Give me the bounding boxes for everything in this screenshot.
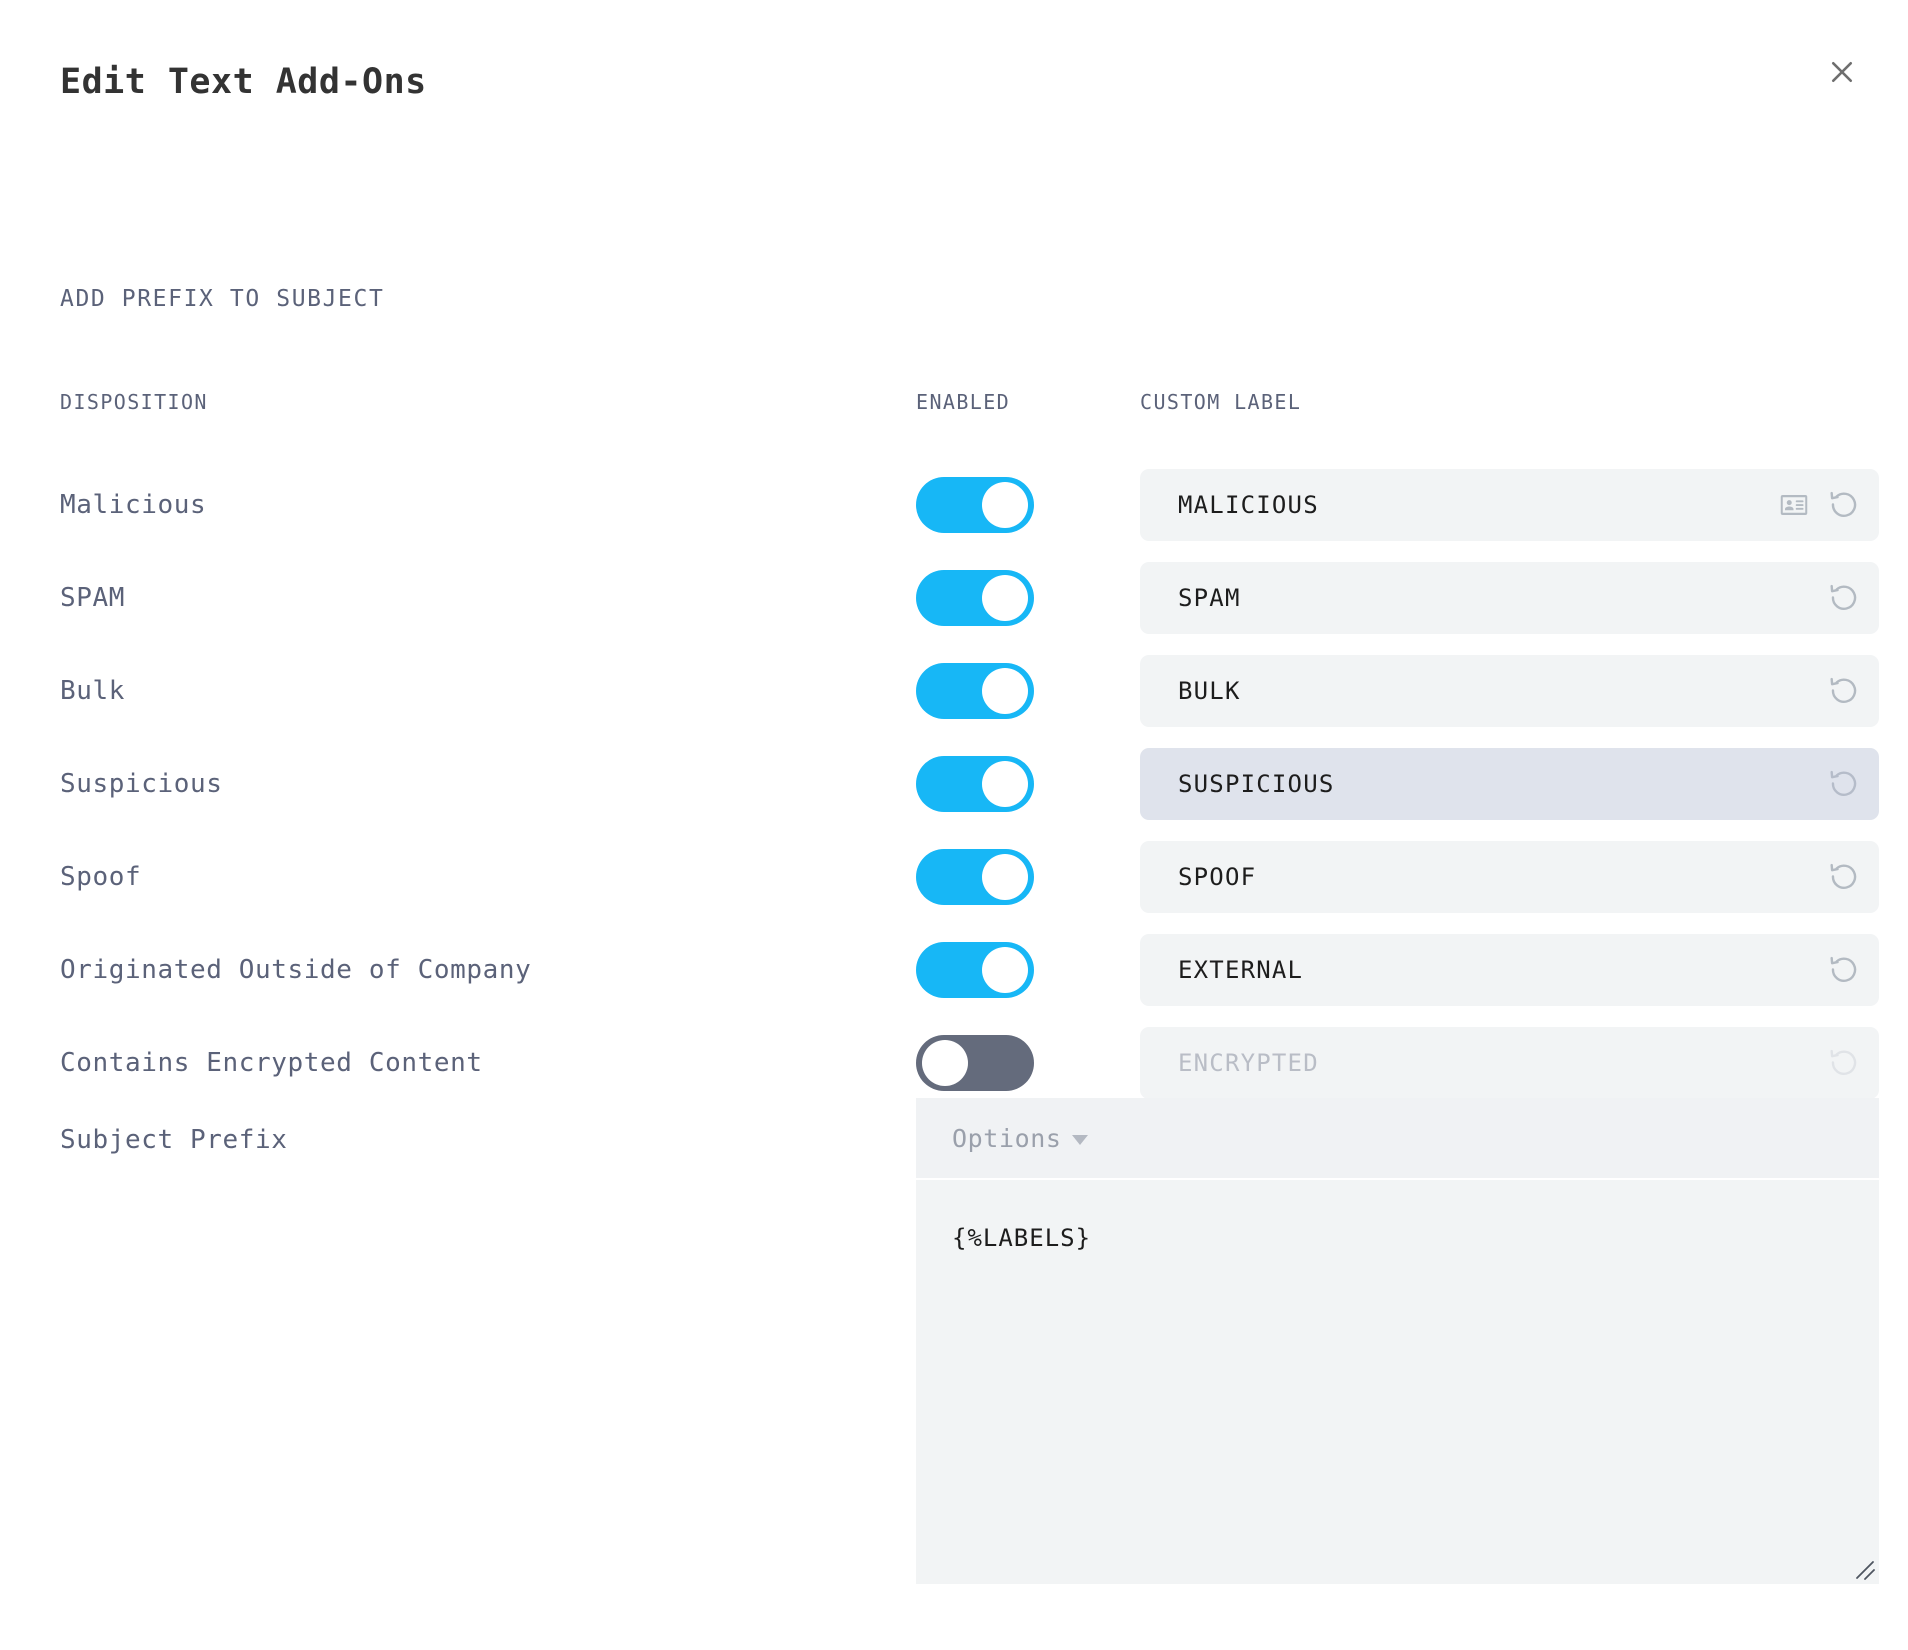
field-icon-group (1827, 581, 1861, 615)
toggle-knob (982, 947, 1028, 993)
subject-prefix-value: {%LABELS} (952, 1224, 1879, 1252)
close-icon (1827, 57, 1857, 87)
field-icon-group (1777, 488, 1861, 522)
reset-icon (1827, 1046, 1861, 1080)
disposition-label: Originated Outside of Company (60, 955, 531, 985)
field-icon-group (1827, 953, 1861, 987)
reset-icon[interactable] (1827, 860, 1861, 894)
custom-label-input[interactable]: SPAM (1140, 562, 1879, 634)
section-header-add-prefix-to-subject: ADD PREFIX TO SUBJECT (60, 286, 384, 312)
enabled-toggle[interactable] (916, 477, 1034, 533)
custom-label-input[interactable]: SUSPICIOUS (1140, 748, 1879, 820)
reset-icon[interactable] (1827, 767, 1861, 801)
toggle-knob (922, 1040, 968, 1086)
custom-label-value: MALICIOUS (1178, 491, 1777, 519)
disposition-label: Malicious (60, 490, 206, 520)
table-row: SuspiciousSUSPICIOUS (0, 737, 1908, 830)
enabled-toggle[interactable] (916, 663, 1034, 719)
custom-label-value: SPOOF (1178, 863, 1827, 891)
enabled-toggle[interactable] (916, 849, 1034, 905)
page-title: Edit Text Add-Ons (60, 62, 427, 102)
column-header-enabled: ENABLED (916, 390, 1010, 414)
disposition-rows: MaliciousMALICIOUSSPAMSPAMBulkBULKSuspic… (0, 458, 1908, 1109)
table-column-headers: DISPOSITION ENABLED CUSTOM LABEL (0, 390, 1908, 418)
id-card-icon[interactable] (1777, 488, 1811, 522)
enabled-toggle[interactable] (916, 570, 1034, 626)
table-row: SpoofSPOOF (0, 830, 1908, 923)
reset-icon[interactable] (1827, 674, 1861, 708)
column-header-disposition: DISPOSITION (60, 390, 208, 414)
options-dropdown-button[interactable]: Options (952, 1124, 1088, 1153)
field-icon-group (1827, 1046, 1861, 1080)
edit-text-add-ons-dialog: Edit Text Add-Ons ADD PREFIX TO SUBJECT … (0, 0, 1908, 1650)
custom-label-input[interactable]: EXTERNAL (1140, 934, 1879, 1006)
resize-handle[interactable] (1849, 1554, 1875, 1580)
subject-prefix-textarea[interactable]: {%LABELS} (916, 1178, 1879, 1584)
reset-icon[interactable] (1827, 953, 1861, 987)
table-row: MaliciousMALICIOUS (0, 458, 1908, 551)
subject-prefix-label: Subject Prefix (60, 1125, 288, 1155)
column-header-custom-label: CUSTOM LABEL (1140, 390, 1301, 414)
reset-icon[interactable] (1827, 581, 1861, 615)
disposition-label: Contains Encrypted Content (60, 1048, 483, 1078)
field-icon-group (1827, 674, 1861, 708)
table-row: BulkBULK (0, 644, 1908, 737)
custom-label-input[interactable]: BULK (1140, 655, 1879, 727)
custom-label-input[interactable]: SPOOF (1140, 841, 1879, 913)
close-button[interactable] (1820, 50, 1864, 94)
custom-label-value: BULK (1178, 677, 1827, 705)
toggle-knob (982, 482, 1028, 528)
table-row: Contains Encrypted ContentENCRYPTED (0, 1016, 1908, 1109)
disposition-label: SPAM (60, 583, 125, 613)
toggle-knob (982, 854, 1028, 900)
custom-label-value: SUSPICIOUS (1178, 770, 1827, 798)
editor-toolbar: Options (916, 1098, 1879, 1178)
custom-label-value: EXTERNAL (1178, 956, 1827, 984)
table-row: SPAMSPAM (0, 551, 1908, 644)
reset-icon[interactable] (1827, 488, 1861, 522)
enabled-toggle[interactable] (916, 942, 1034, 998)
field-icon-group (1827, 767, 1861, 801)
table-row: Originated Outside of CompanyEXTERNAL (0, 923, 1908, 1016)
options-dropdown-label: Options (952, 1124, 1062, 1153)
disposition-label: Bulk (60, 676, 125, 706)
toggle-knob (982, 761, 1028, 807)
enabled-toggle[interactable] (916, 1035, 1034, 1091)
toggle-knob (982, 668, 1028, 714)
subject-prefix-editor: Options {%LABELS} (916, 1098, 1879, 1584)
custom-label-value: SPAM (1178, 584, 1827, 612)
disposition-label: Spoof (60, 862, 141, 892)
disposition-label: Suspicious (60, 769, 223, 799)
custom-label-input: ENCRYPTED (1140, 1027, 1879, 1099)
custom-label-input[interactable]: MALICIOUS (1140, 469, 1879, 541)
custom-label-value: ENCRYPTED (1178, 1049, 1827, 1077)
field-icon-group (1827, 860, 1861, 894)
enabled-toggle[interactable] (916, 756, 1034, 812)
toggle-knob (982, 575, 1028, 621)
chevron-down-icon (1072, 1135, 1088, 1145)
